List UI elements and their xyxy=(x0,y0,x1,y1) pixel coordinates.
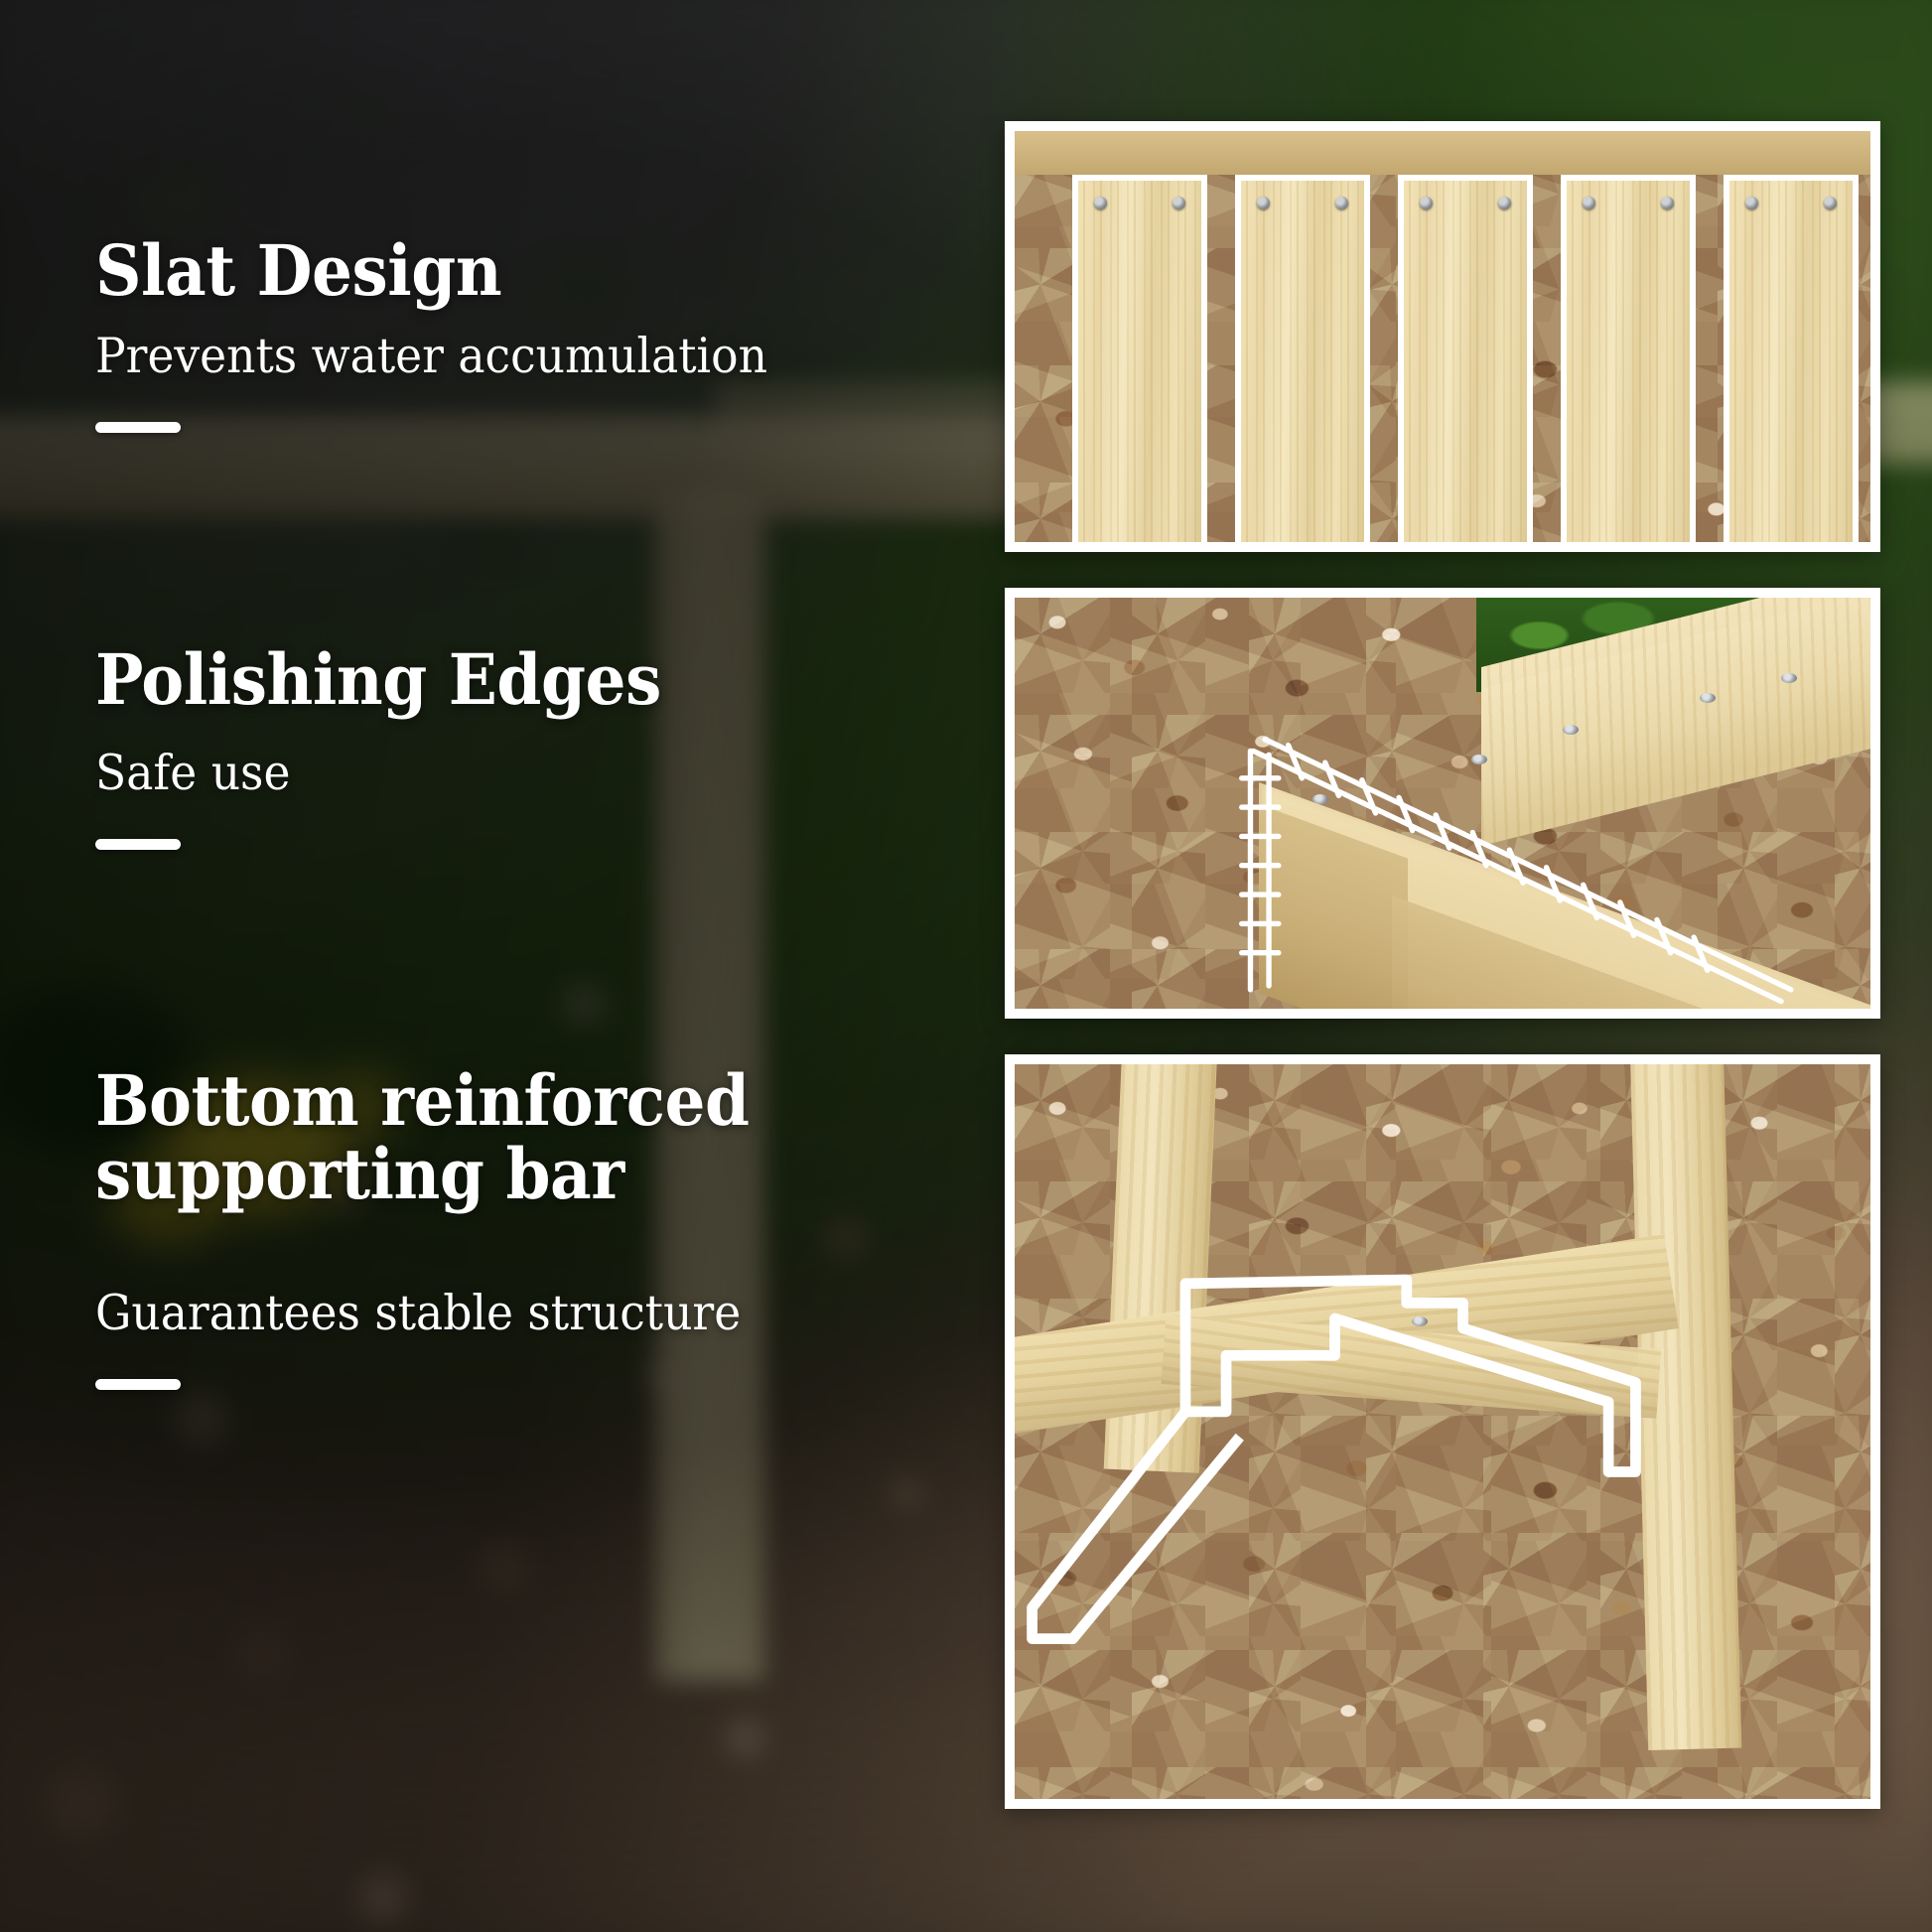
wood-slat xyxy=(1398,175,1533,552)
screw-icon xyxy=(1335,197,1348,209)
feature-subtitle: Guarantees stable structure xyxy=(95,1285,769,1343)
frame-rail xyxy=(1015,131,1870,175)
polishing-edges-photo xyxy=(1005,588,1880,1019)
slat-design-photo xyxy=(1005,121,1880,552)
screw-icon xyxy=(1700,693,1716,703)
screw-icon xyxy=(1257,197,1270,209)
feature-block-supporting-bar: Bottom reinforced supporting bar Guarant… xyxy=(95,1064,820,1390)
feature-divider xyxy=(95,839,181,850)
feature-divider xyxy=(95,1379,181,1390)
feature-divider xyxy=(95,422,181,433)
feature-subtitle: Prevents water accumulation xyxy=(95,328,769,386)
screw-icon xyxy=(1498,197,1511,209)
screw-icon xyxy=(1824,197,1837,209)
wood-slat xyxy=(1072,175,1207,552)
feature-list: Slat Design Prevents water accumulation … xyxy=(0,0,834,1932)
feature-title: Polishing Edges xyxy=(95,643,762,717)
screw-icon xyxy=(1781,673,1797,683)
screw-icon xyxy=(1173,197,1185,209)
infographic-canvas: Slat Design Prevents water accumulation … xyxy=(0,0,1932,1932)
screw-icon xyxy=(1661,197,1674,209)
feature-block-polishing-edges: Polishing Edges Safe use xyxy=(95,643,820,850)
screw-icon xyxy=(1094,197,1107,209)
screw-icon xyxy=(1471,755,1487,764)
screw-icon xyxy=(1745,197,1758,209)
supporting-bar-photo xyxy=(1005,1054,1880,1809)
feature-title: Slat Design xyxy=(95,234,762,308)
feature-subtitle: Safe use xyxy=(95,745,769,803)
wood-slat xyxy=(1561,175,1696,552)
feature-title: Bottom reinforced supporting bar xyxy=(95,1064,762,1211)
screw-icon xyxy=(1312,794,1328,804)
screw-icon xyxy=(1420,197,1433,209)
wood-slat xyxy=(1724,175,1859,552)
wood-slat xyxy=(1235,175,1370,552)
screw-icon xyxy=(1412,1316,1428,1326)
feature-block-slat-design: Slat Design Prevents water accumulation xyxy=(95,234,820,433)
screw-icon xyxy=(1563,725,1579,735)
screw-icon xyxy=(1583,197,1595,209)
